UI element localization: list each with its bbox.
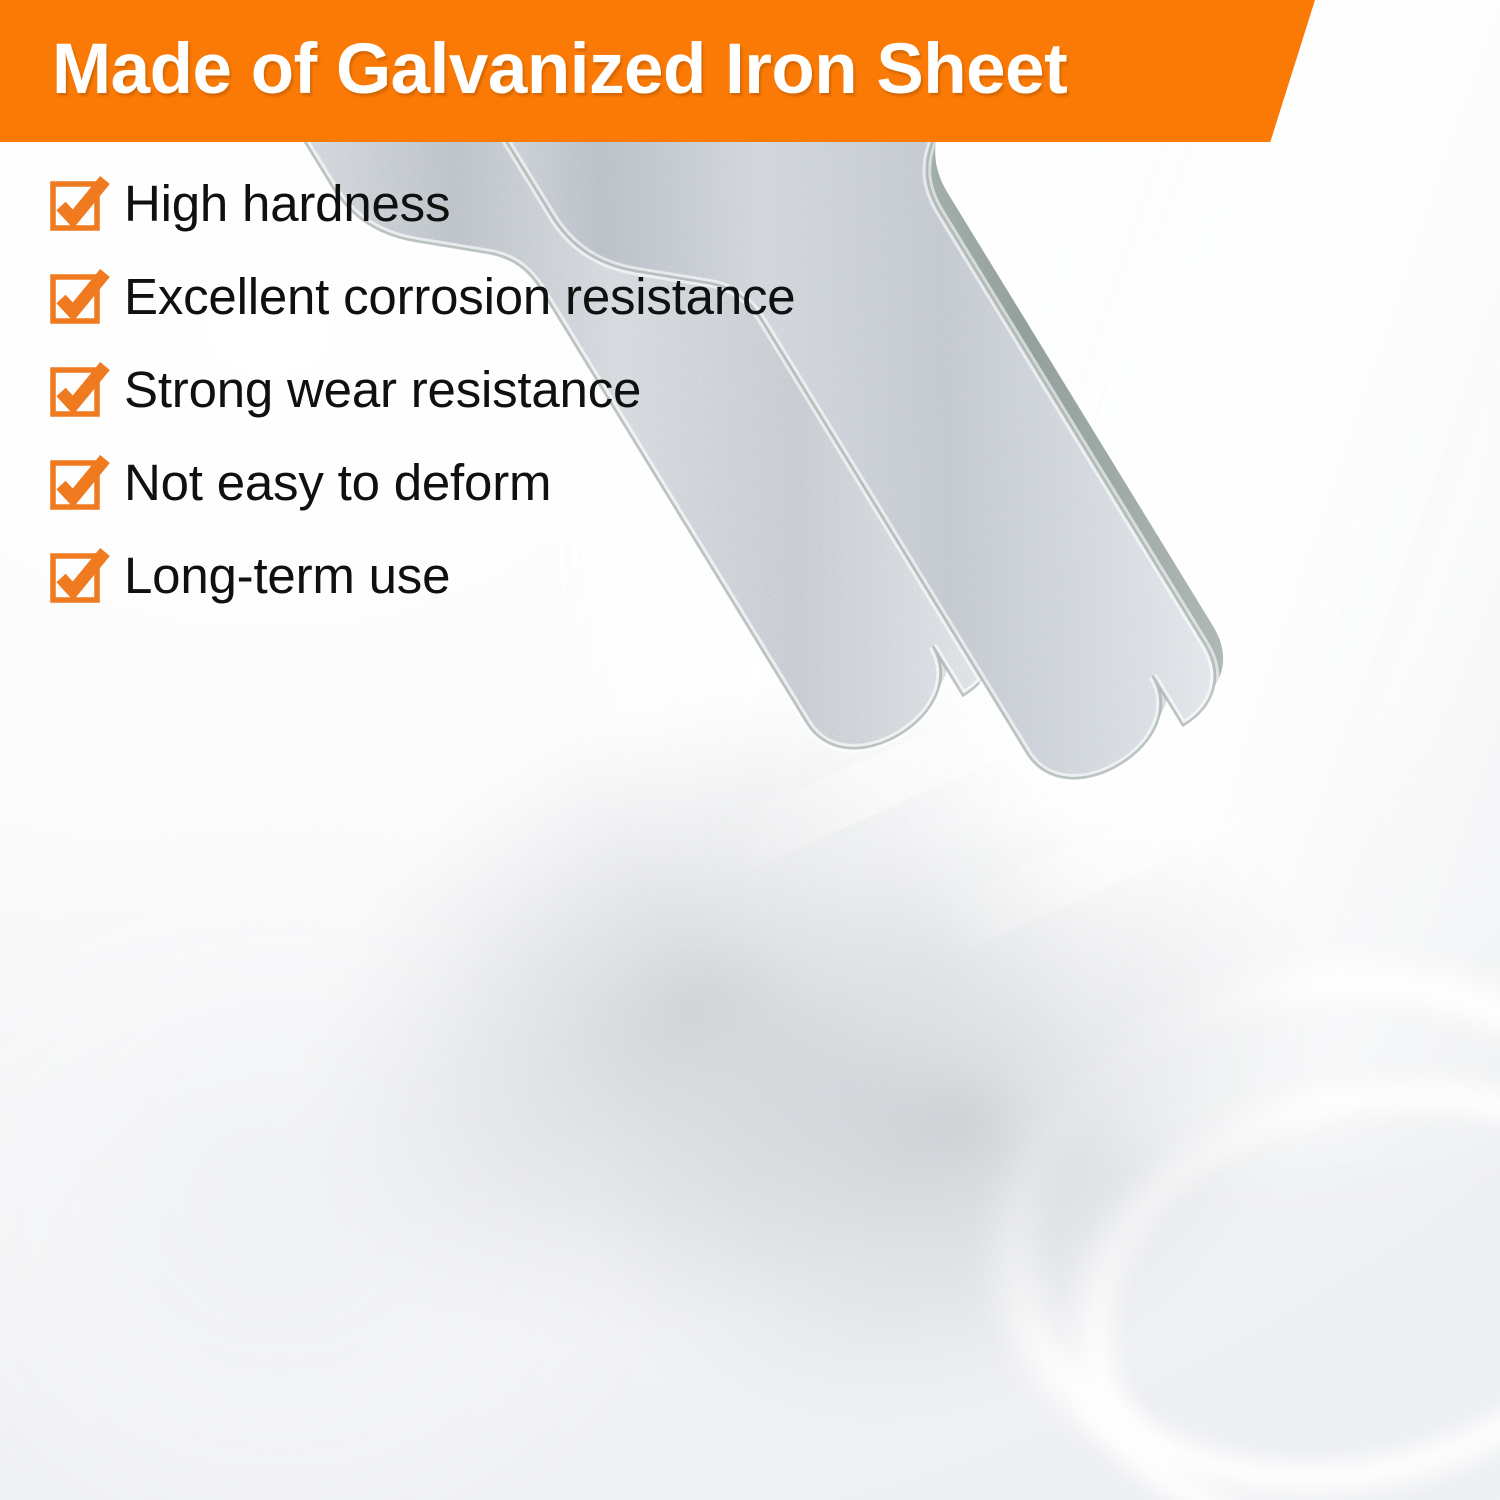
feature-item-high-hardness: High hardness [52, 173, 1052, 233]
feature-list: High hardness Excellent corrosion resist… [52, 173, 1052, 638]
checkbox-checked-icon [52, 459, 98, 505]
banner-title: Made of Galvanized Iron Sheet [52, 29, 1067, 110]
product-feature-image: Made of Galvanized Iron Sheet High hardn… [0, 0, 1500, 1500]
feature-label: High hardness [124, 178, 450, 229]
feature-label: Excellent corrosion resistance [124, 271, 795, 322]
checkbox-checked-icon [52, 273, 98, 319]
feature-item-wear-resistance: Strong wear resistance [52, 359, 1052, 419]
feature-label: Strong wear resistance [124, 364, 641, 415]
checkbox-checked-icon [52, 180, 98, 226]
wrench-shadows [167, 531, 1447, 1500]
wrench-back-highlight [718, 651, 1142, 871]
feature-item-long-term-use: Long-term use [52, 545, 1052, 605]
background-swoosh-lower [950, 969, 1500, 1500]
feature-label: Long-term use [124, 550, 450, 601]
wrench-front-highlight [938, 731, 1354, 951]
header-banner: Made of Galvanized Iron Sheet [0, 0, 1315, 142]
feature-item-not-easy-to-deform: Not easy to deform [52, 452, 1052, 512]
background-swoosh-upper [836, 821, 1500, 1500]
feature-item-corrosion-resistance: Excellent corrosion resistance [52, 266, 1052, 326]
background-glow-left [0, 760, 780, 1500]
checkbox-checked-icon [52, 552, 98, 598]
checkbox-checked-icon [52, 366, 98, 412]
feature-label: Not easy to deform [124, 457, 551, 508]
